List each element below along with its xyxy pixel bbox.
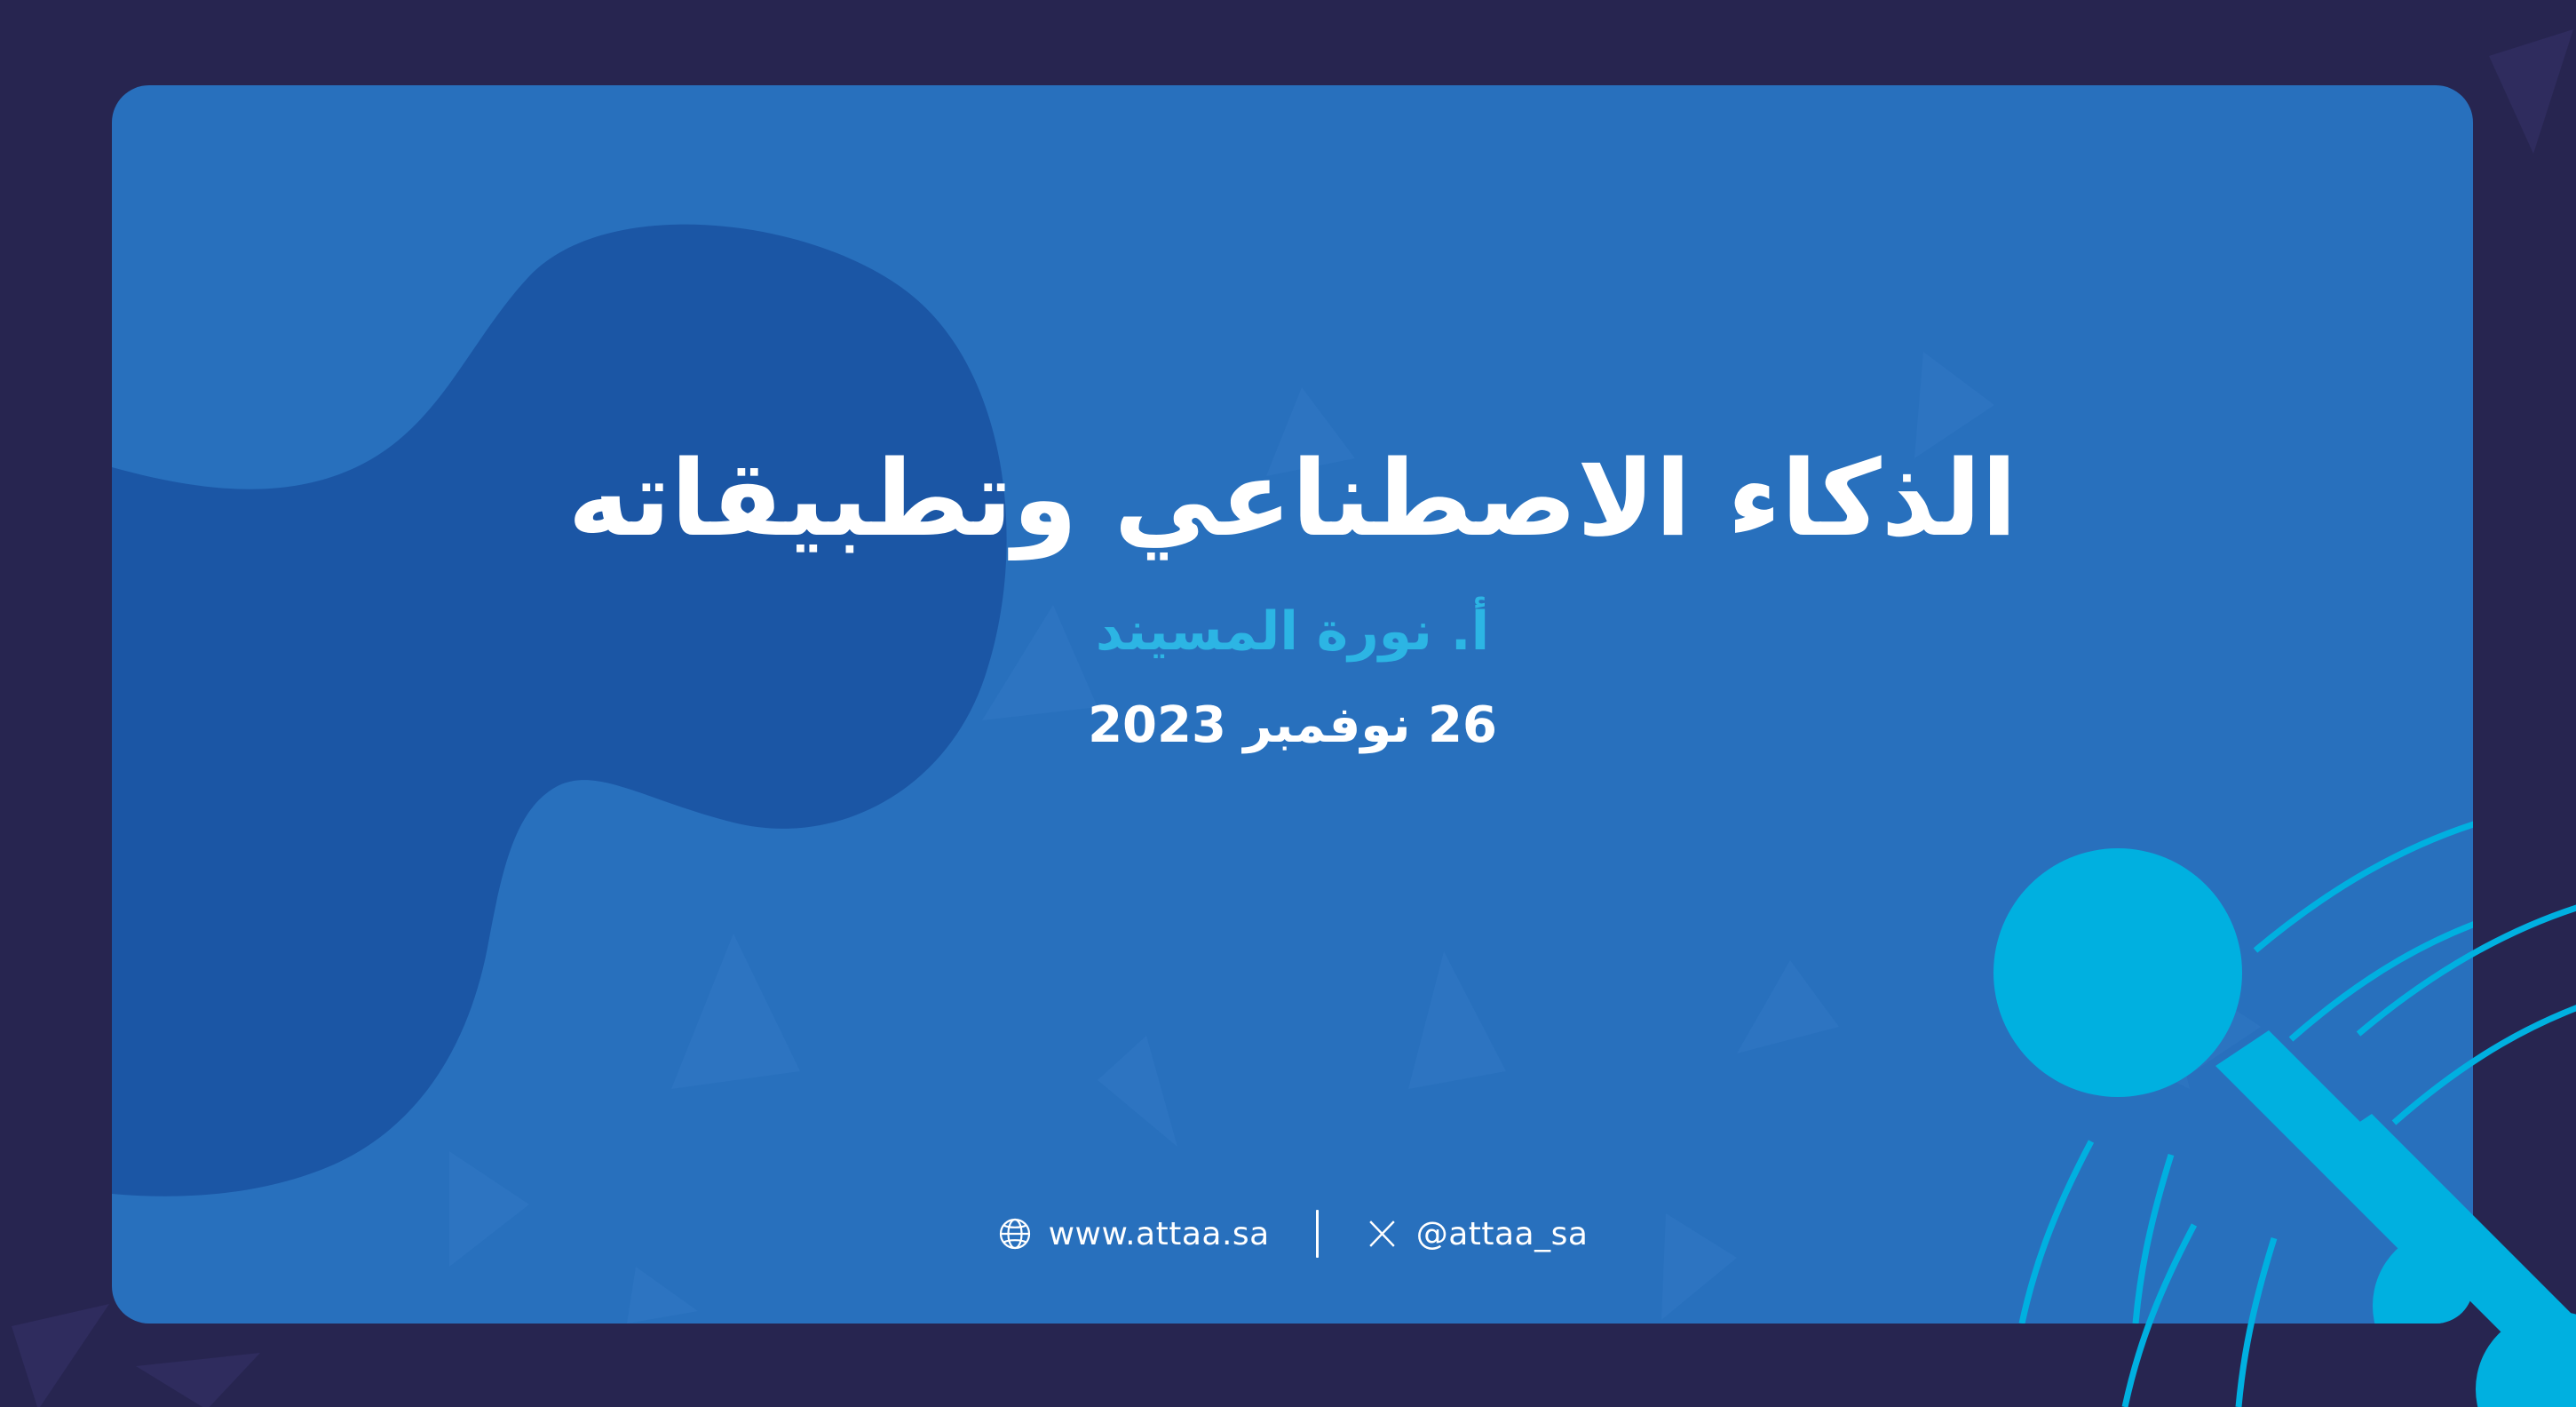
card-content: الذكاء الاصطناعي وتطبيقاته أ. نورة المسي… (112, 85, 2473, 1324)
slide-canvas: الذكاء الاصطناعي وتطبيقاته أ. نورة المسي… (0, 0, 2576, 1407)
footer-divider (1316, 1210, 1319, 1258)
background-triangle-decor-right (2477, 0, 2576, 361)
page-title: الذكاء الاصطناعي وتطبيقاته (567, 444, 2017, 554)
footer-bar: www.attaa.sa @attaa_sa (112, 1210, 2473, 1258)
social-handle-label: @attaa_sa (1416, 1216, 1589, 1252)
presentation-date: 26 نوفمبر 2023 (1088, 696, 1497, 754)
social-link[interactable]: @attaa_sa (1365, 1216, 1589, 1252)
presenter-name: أ. نورة المسيند (1096, 600, 1489, 663)
x-twitter-icon (1365, 1216, 1400, 1252)
title-card: الذكاء الاصطناعي وتطبيقاته أ. نورة المسي… (112, 85, 2473, 1324)
globe-icon (997, 1216, 1033, 1252)
website-link[interactable]: www.attaa.sa (997, 1216, 1270, 1252)
website-label: www.attaa.sa (1049, 1216, 1270, 1252)
